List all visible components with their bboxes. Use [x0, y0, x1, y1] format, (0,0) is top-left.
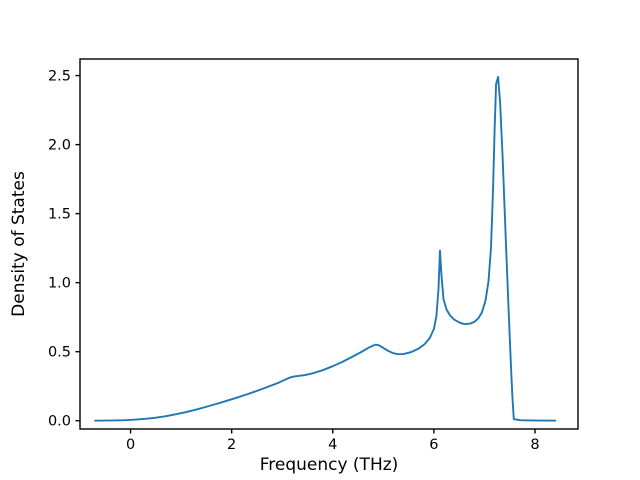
x-axis-ticks: 02468 — [126, 429, 540, 453]
x-tick-label: 0 — [126, 437, 135, 453]
x-axis-title: Frequency (THz) — [260, 455, 399, 475]
x-tick-label: 8 — [530, 437, 539, 453]
figure-canvas: 02468 0.00.51.01.52.02.5 Frequency (THz)… — [0, 0, 640, 480]
y-tick-label: 1.0 — [48, 276, 71, 292]
x-tick-label: 2 — [227, 437, 236, 453]
y-tick-label: 0.5 — [48, 345, 71, 361]
x-tick-label: 4 — [328, 437, 337, 453]
y-tick-label: 2.5 — [48, 69, 71, 85]
plot-background — [80, 59, 578, 429]
y-axis-ticks: 0.00.51.01.52.02.5 — [48, 69, 80, 430]
x-tick-label: 6 — [429, 437, 438, 453]
y-tick-label: 2.0 — [48, 138, 71, 154]
y-tick-label: 1.5 — [48, 207, 71, 223]
density-of-states-plot: 02468 0.00.51.01.52.02.5 Frequency (THz)… — [0, 0, 640, 480]
y-tick-label: 0.0 — [48, 414, 71, 430]
y-axis-title: Density of States — [9, 171, 29, 317]
